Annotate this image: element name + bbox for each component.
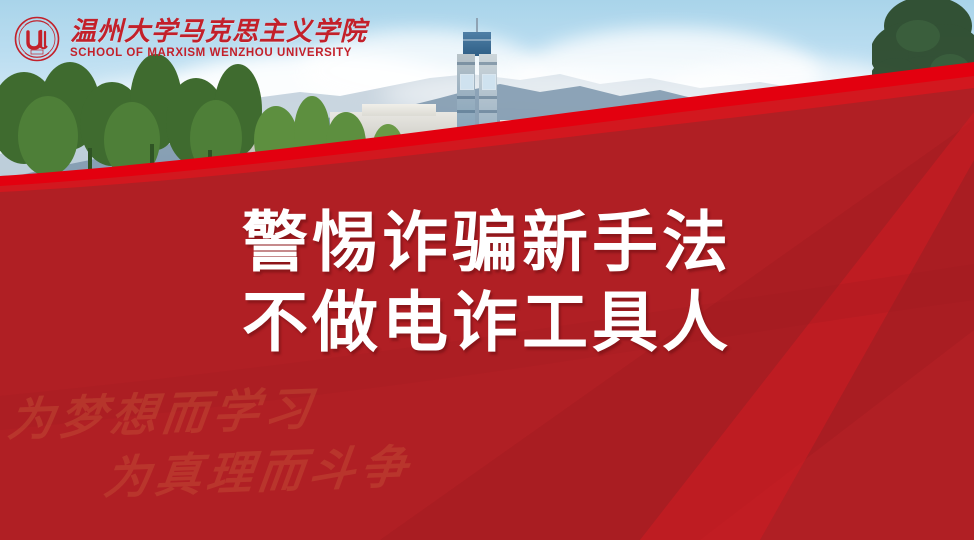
headline-line-2: 不做电诈工具人: [0, 284, 974, 364]
headline-line-1: 警惕诈骗新手法: [0, 204, 974, 284]
motto-watermark: 为梦想而学习 为真理而斗争: [8, 392, 428, 522]
university-seal-icon: [14, 16, 60, 62]
tree-line: [0, 52, 974, 200]
brand-text-group: 温州大学马克思主义学院 SCHOOL OF MARXISM WENZHOU UN…: [70, 18, 367, 60]
poster-headline: 警惕诈骗新手法 不做电诈工具人: [0, 204, 974, 364]
poster-canvas: 温州大学马克思主义学院 SCHOOL OF MARXISM WENZHOU UN…: [0, 0, 974, 540]
motto-line-2: 为真理而斗争: [101, 438, 434, 508]
brand-name-en: SCHOOL OF MARXISM WENZHOU UNIVERSITY: [70, 47, 367, 60]
motto-line-1: 为梦想而学习: [5, 376, 434, 450]
university-brand: 温州大学马克思主义学院 SCHOOL OF MARXISM WENZHOU UN…: [14, 16, 367, 62]
brand-name-cn: 温州大学马克思主义学院: [70, 18, 367, 46]
tree-right: [872, 0, 974, 126]
